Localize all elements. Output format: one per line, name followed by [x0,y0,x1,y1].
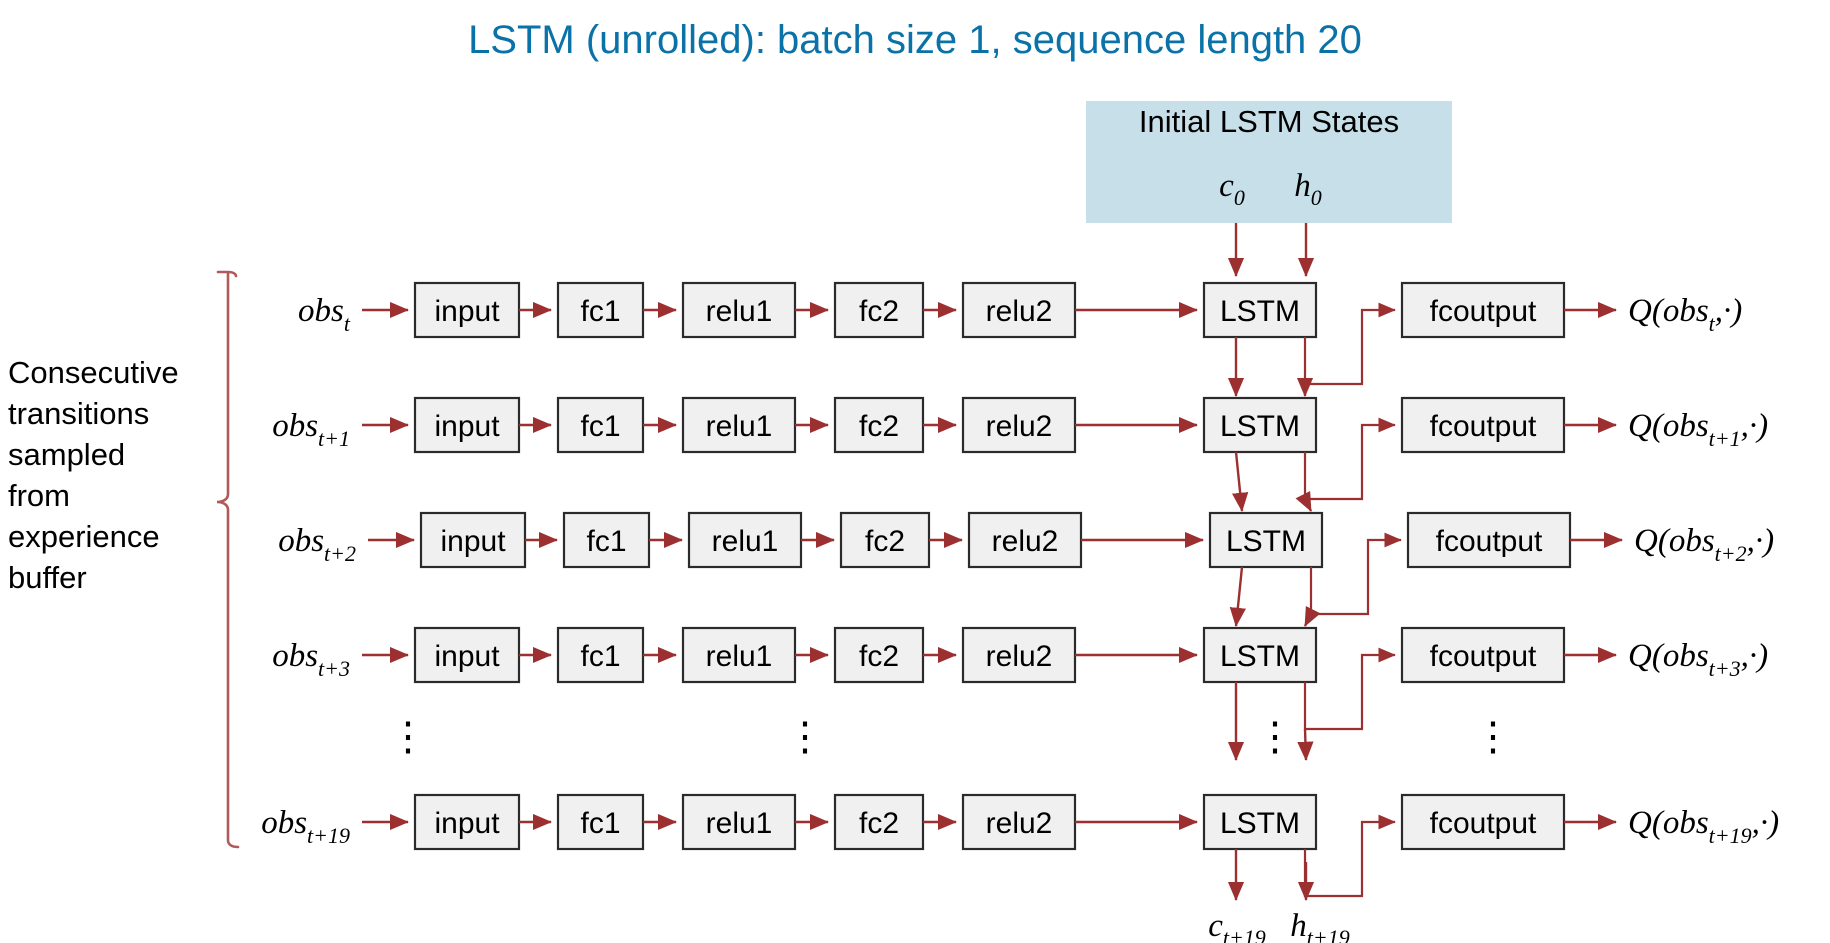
q-value-label: Q(obst+1,·) [1628,408,1768,451]
layer-box-label: input [440,525,506,558]
arrow-cell-state-carry [1236,567,1242,626]
pipeline-row: obst+19inputfc1relu1fc2relu2LSTMfcoutput… [261,795,1779,896]
lstm-unrolled-diagram: LSTM (unrolled): batch size 1, sequence … [0,0,1830,943]
layer-box-label: fc1 [580,410,620,443]
pipeline-row: obst+1inputfc1relu1fc2relu2LSTMfcoutputQ… [272,398,1768,499]
arrow-lstm-hidden-to-fcoutput [1305,310,1395,384]
brace [217,272,238,847]
layer-box-label: LSTM [1220,640,1300,673]
caption-line-5: buffer [8,560,87,595]
h-final-label: ht+19 [1290,908,1349,943]
obs-label: obst+19 [261,805,350,848]
layer-box-label: fc2 [859,640,899,673]
vertical-ellipsis: ⋮ [1255,714,1295,759]
layer-box-label: relu2 [992,525,1059,558]
q-value-label: Q(obst+19,·) [1628,805,1779,848]
q-value-label: Q(obst+2,·) [1634,523,1774,566]
layer-box-label: LSTM [1220,410,1300,443]
arrow-lstm-hidden-to-fcoutput [1311,540,1401,614]
caption-line-3: from [8,478,70,513]
caption-line-4: experience [8,519,160,554]
layer-box-label: LSTM [1226,525,1306,558]
layer-box-label: fcoutput [1430,807,1537,840]
arrow-lstm-hidden-to-fcoutput [1305,655,1395,729]
layer-box-label: relu1 [712,525,779,558]
initial-states-heading: Initial LSTM States [1139,104,1399,139]
layer-box-label: fc2 [859,295,899,328]
obs-label: obst+1 [272,408,350,451]
q-value-label: Q(obst,·) [1628,293,1742,336]
caption-line-1: transitions [8,396,149,431]
layer-box-label: input [434,807,500,840]
arrow-hidden-state-to-dots [1305,729,1306,760]
obs-label: obst+2 [278,523,356,566]
arrow-hidden-state-carry [1305,614,1311,626]
arrow-hidden-state-carry [1305,499,1311,511]
ellipsis-row: ⋮⋮⋮⋮ [388,714,1513,759]
obs-label: obst [298,293,351,336]
layer-box-label: fcoutput [1430,410,1537,443]
layer-box-label: fcoutput [1430,295,1537,328]
layer-box-label: relu2 [986,295,1053,328]
layer-box-label: fc2 [859,807,899,840]
layer-box-label: LSTM [1220,807,1300,840]
layer-box-label: input [434,295,500,328]
vertical-ellipsis: ⋮ [1473,714,1513,759]
page-title: LSTM (unrolled): batch size 1, sequence … [468,18,1362,62]
layer-box-label: relu1 [706,640,773,673]
layer-box-label: input [434,640,500,673]
left-caption: Consecutive transitions sampled from exp… [8,355,179,595]
layer-box-label: LSTM [1220,295,1300,328]
layer-box-label: fc1 [580,640,620,673]
layer-box-label: relu2 [986,807,1053,840]
vertical-ellipsis: ⋮ [388,714,428,759]
layer-box-label: fc1 [580,295,620,328]
layer-box-label: fcoutput [1436,525,1543,558]
arrow-lstm-hidden-to-fcoutput [1305,822,1395,896]
vertical-ellipsis: ⋮ [785,714,825,759]
pipeline-row: obst+3inputfc1relu1fc2relu2LSTMfcoutputQ… [272,628,1768,729]
caption-line-0: Consecutive [8,355,179,390]
obs-label: obst+3 [272,638,350,681]
q-value-label: Q(obst+3,·) [1628,638,1768,681]
layer-box-label: relu1 [706,410,773,443]
arrow-cell-state-carry [1236,452,1242,511]
arrow-lstm-hidden-to-fcoutput [1305,425,1395,499]
layer-box-label: relu1 [706,807,773,840]
layer-box-label: fc1 [580,807,620,840]
layer-box-label: fcoutput [1430,640,1537,673]
layer-box-label: relu1 [706,295,773,328]
layer-box-label: relu2 [986,410,1053,443]
pipeline-row: obst+2inputfc1relu1fc2relu2LSTMfcoutputQ… [278,513,1774,614]
layer-box-label: fc1 [586,525,626,558]
slide-canvas: LSTM (unrolled): batch size 1, sequence … [0,0,1830,943]
c-final-label: ct+19 [1208,908,1266,943]
rows-layer: obstinputfc1relu1fc2relu2LSTMfcoutputQ(o… [261,283,1779,896]
layer-box-label: fc2 [859,410,899,443]
layer-box-label: relu2 [986,640,1053,673]
caption-line-2: sampled [8,437,125,472]
layer-box-label: input [434,410,500,443]
layer-box-label: fc2 [865,525,905,558]
pipeline-row: obstinputfc1relu1fc2relu2LSTMfcoutputQ(o… [298,283,1742,384]
